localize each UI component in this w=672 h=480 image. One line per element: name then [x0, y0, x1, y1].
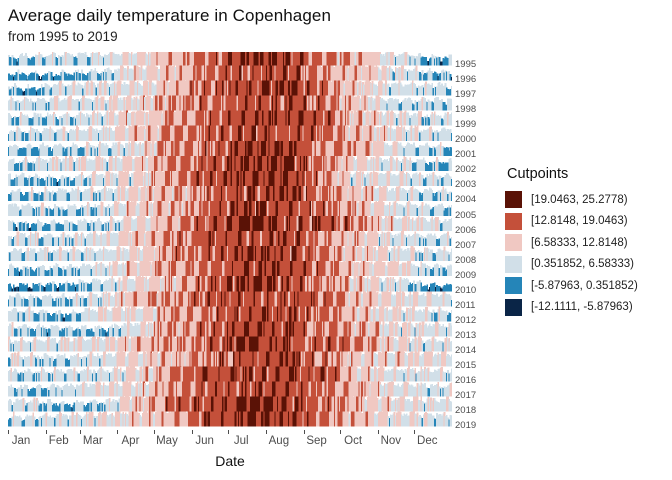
y-axis-tick-label: 2013 [455, 331, 476, 341]
x-axis-tick [46, 430, 47, 434]
x-axis-tick-label: Apr [122, 435, 140, 447]
legend-item[interactable]: [-12.1111, -5.87963) [505, 297, 670, 319]
x-axis-tick [304, 430, 305, 434]
ridge-row [8, 52, 452, 66]
chart-subtitle: from 1995 to 2019 [8, 29, 118, 44]
legend-swatch-icon [505, 256, 522, 273]
plot-panel [8, 52, 452, 430]
x-axis-tick-label: Feb [49, 435, 69, 447]
y-axis-tick-label: 1998 [455, 105, 476, 115]
x-axis-tick-label: Oct [344, 435, 362, 447]
y-axis-tick-label: 2011 [455, 301, 475, 311]
y-axis-tick-label: 2003 [455, 180, 476, 190]
x-axis-tick-label: Nov [381, 435, 401, 447]
y-axis-tick-label: 2014 [455, 346, 476, 356]
y-axis-tick-label: 2004 [455, 195, 476, 205]
y-axis-year-labels: 1995199619971998199920002001200220032004… [455, 52, 501, 430]
y-axis-tick-label: 1995 [455, 60, 476, 70]
legend-item[interactable]: [12.8148, 19.0463) [505, 211, 670, 233]
y-axis-tick-label: 2008 [455, 256, 476, 266]
x-axis-tick-label: May [156, 435, 178, 447]
y-axis-tick-label: 2010 [455, 286, 476, 296]
x-axis-tick-label: Jan [12, 435, 31, 447]
x-axis-tick [80, 430, 81, 434]
x-axis-tick [266, 430, 267, 434]
x-axis-tick-label: Sep [306, 435, 326, 447]
legend-items: [19.0463, 25.2778)[12.8148, 19.0463)[6.5… [505, 189, 670, 318]
legend-swatch-icon [505, 299, 522, 316]
ridgeline-series-group [8, 52, 452, 430]
x-axis-tick [117, 430, 118, 434]
y-axis-tick-label: 2005 [455, 211, 476, 221]
y-axis-tick-label: 2002 [455, 165, 476, 175]
ridgeline-chart: Average daily temperature in Copenhagen … [0, 0, 672, 480]
legend-item-label: [19.0463, 25.2778) [531, 194, 628, 206]
x-axis-tick-label: Aug [269, 435, 289, 447]
legend-item-label: [-12.1111, -5.87963) [531, 301, 633, 313]
x-axis-tick [340, 430, 341, 434]
y-axis-tick-label: 2018 [455, 406, 476, 416]
legend-swatch-icon [505, 191, 522, 208]
legend-item[interactable]: [19.0463, 25.2778) [505, 189, 670, 211]
legend-item[interactable]: [-5.87963, 0.351852) [505, 275, 670, 297]
legend: Cutpoints [19.0463, 25.2778)[12.8148, 19… [505, 166, 670, 318]
legend-title: Cutpoints [507, 166, 670, 182]
x-axis-tick-label: Jun [195, 435, 214, 447]
legend-item-label: [0.351852, 6.58333) [531, 258, 634, 270]
y-axis-tick-label: 2006 [455, 226, 476, 236]
legend-item[interactable]: [6.58333, 12.8148) [505, 232, 670, 254]
y-axis-tick-label: 2015 [455, 361, 476, 371]
legend-item[interactable]: [0.351852, 6.58333) [505, 254, 670, 276]
y-axis-tick-label: 2001 [455, 150, 476, 160]
y-axis-tick-label: 1997 [455, 90, 476, 100]
x-axis-tick [8, 430, 9, 434]
x-axis-tick-label: Dec [417, 435, 437, 447]
y-axis-tick-label: 1999 [455, 120, 476, 130]
x-axis-tick [192, 430, 193, 434]
x-axis-tick [154, 430, 155, 434]
x-axis: JanFebMarAprMayJunJulAugSepOctNovDec [8, 430, 452, 450]
legend-item-label: [6.58333, 12.8148) [531, 237, 628, 249]
chart-title: Average daily temperature in Copenhagen [8, 6, 331, 26]
legend-swatch-icon [505, 234, 522, 251]
legend-swatch-icon [505, 277, 522, 294]
x-axis-title: Date [8, 453, 452, 469]
x-axis-tick [228, 430, 229, 434]
y-axis-tick-label: 2012 [455, 316, 476, 326]
x-axis-tick-label: Jul [234, 435, 249, 447]
legend-swatch-icon [505, 213, 522, 230]
y-axis-tick-label: 2016 [455, 376, 476, 386]
y-axis-tick-label: 2019 [455, 421, 476, 431]
y-axis-tick-label: 2007 [455, 241, 476, 251]
x-axis-tick [414, 430, 415, 434]
y-axis-tick-label: 2000 [455, 135, 476, 145]
x-axis-tick [378, 430, 379, 434]
legend-item-label: [-5.87963, 0.351852) [531, 280, 638, 292]
x-axis-tick-label: Mar [83, 435, 103, 447]
y-axis-tick-label: 1996 [455, 75, 476, 85]
legend-item-label: [12.8148, 19.0463) [531, 215, 628, 227]
y-axis-tick-label: 2017 [455, 391, 476, 401]
y-axis-tick-label: 2009 [455, 271, 476, 281]
